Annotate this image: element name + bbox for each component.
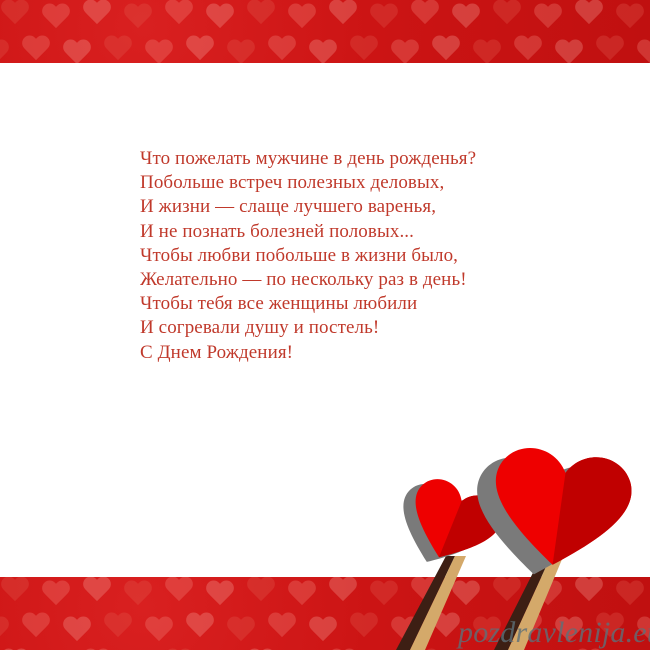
- background-heart-icon: [226, 617, 256, 644]
- greeting-card: Что пожелать мужчине в день рожденья? По…: [0, 0, 650, 650]
- background-heart-icon: [41, 581, 71, 608]
- background-heart-icon: [82, 577, 112, 604]
- background-heart-icon: [62, 40, 92, 63]
- background-heart-icon: [287, 581, 317, 608]
- background-heart-icon: [0, 0, 30, 27]
- background-heart-icon: [595, 36, 625, 63]
- background-heart-icon: [308, 40, 338, 63]
- background-heart-icon: [492, 0, 522, 27]
- large-heart-dark-half: [485, 444, 636, 575]
- poem-line: И не познать болезней половых...: [140, 220, 560, 244]
- background-heart-icon: [349, 613, 379, 640]
- background-heart-icon: [185, 613, 215, 640]
- background-heart-icon: [103, 36, 133, 63]
- background-heart-icon: [21, 613, 51, 640]
- background-heart-icon: [349, 36, 379, 63]
- small-heart-dark-half: [398, 472, 508, 573]
- background-heart-icon: [390, 617, 420, 644]
- small-heart-bright-half: [398, 472, 508, 573]
- background-heart-icon: [431, 613, 461, 640]
- poem-line: Что пожелать мужчине в день рожденья?: [140, 147, 560, 171]
- poem-text-block: Что пожелать мужчине в день рожденья? По…: [140, 147, 560, 365]
- background-heart-icon: [62, 617, 92, 644]
- background-heart-icon: [0, 617, 10, 644]
- background-heart-icon: [615, 581, 645, 608]
- background-heart-icon: [533, 581, 563, 608]
- top-heart-band-pattern: [0, 0, 650, 63]
- background-heart-icon: [410, 577, 440, 604]
- background-heart-icon: [164, 0, 194, 27]
- watermark: pozdravlenija.eu: [458, 616, 650, 650]
- poem-line: Чтобы тебя все женщины любили: [140, 292, 560, 316]
- poem-line: Чтобы любви побольше в жизни было,: [140, 244, 560, 268]
- background-heart-icon: [82, 0, 112, 27]
- background-heart-icon: [328, 0, 358, 27]
- background-heart-icon: [533, 4, 563, 31]
- background-heart-icon: [574, 577, 604, 604]
- background-heart-icon: [451, 4, 481, 31]
- poem-line: И согревали душу и постель!: [140, 316, 560, 340]
- top-heart-band: [0, 0, 650, 63]
- large-heart-shadow: [466, 453, 617, 584]
- background-heart-icon: [308, 617, 338, 644]
- background-heart-icon: [267, 36, 297, 63]
- background-heart-icon: [164, 577, 194, 604]
- background-heart-icon: [554, 40, 584, 63]
- background-heart-icon: [246, 577, 276, 604]
- background-heart-icon: [287, 4, 317, 31]
- large-heart-bright-half: [485, 444, 636, 575]
- background-heart-icon: [410, 0, 440, 27]
- background-heart-icon: [513, 36, 543, 63]
- background-heart-icon: [390, 40, 420, 63]
- small-heart-shadow: [386, 477, 496, 578]
- background-heart-icon: [574, 0, 604, 27]
- small-heart-lollipop: [386, 469, 508, 582]
- background-heart-icon: [21, 36, 51, 63]
- background-heart-icon: [369, 581, 399, 608]
- background-heart-icon: [103, 613, 133, 640]
- large-heart-lollipop: [466, 441, 635, 586]
- poem-line: Желательно — по нескольку раз в день!: [140, 268, 560, 292]
- background-heart-icon: [492, 577, 522, 604]
- background-heart-icon: [41, 4, 71, 31]
- poem-line: И жизни — слаще лучшего варенья,: [140, 195, 560, 219]
- background-heart-icon: [328, 577, 358, 604]
- background-heart-icon: [205, 581, 235, 608]
- background-heart-icon: [144, 40, 174, 63]
- background-heart-icon: [636, 40, 650, 63]
- background-heart-icon: [472, 40, 502, 63]
- background-heart-icon: [267, 613, 297, 640]
- background-heart-icon: [246, 0, 276, 27]
- background-heart-icon: [123, 4, 153, 31]
- background-heart-icon: [144, 617, 174, 644]
- background-heart-icon: [185, 36, 215, 63]
- background-heart-icon: [615, 4, 645, 31]
- background-heart-icon: [369, 4, 399, 31]
- background-heart-icon: [123, 581, 153, 608]
- background-heart-icon: [205, 4, 235, 31]
- poem-line: Побольше встреч полезных деловых,: [140, 171, 560, 195]
- background-heart-icon: [451, 581, 481, 608]
- background-heart-icon: [226, 40, 256, 63]
- background-heart-icon: [0, 40, 10, 63]
- poem-line: С Днем Рождения!: [140, 341, 560, 365]
- background-heart-icon: [0, 577, 30, 604]
- background-heart-icon: [431, 36, 461, 63]
